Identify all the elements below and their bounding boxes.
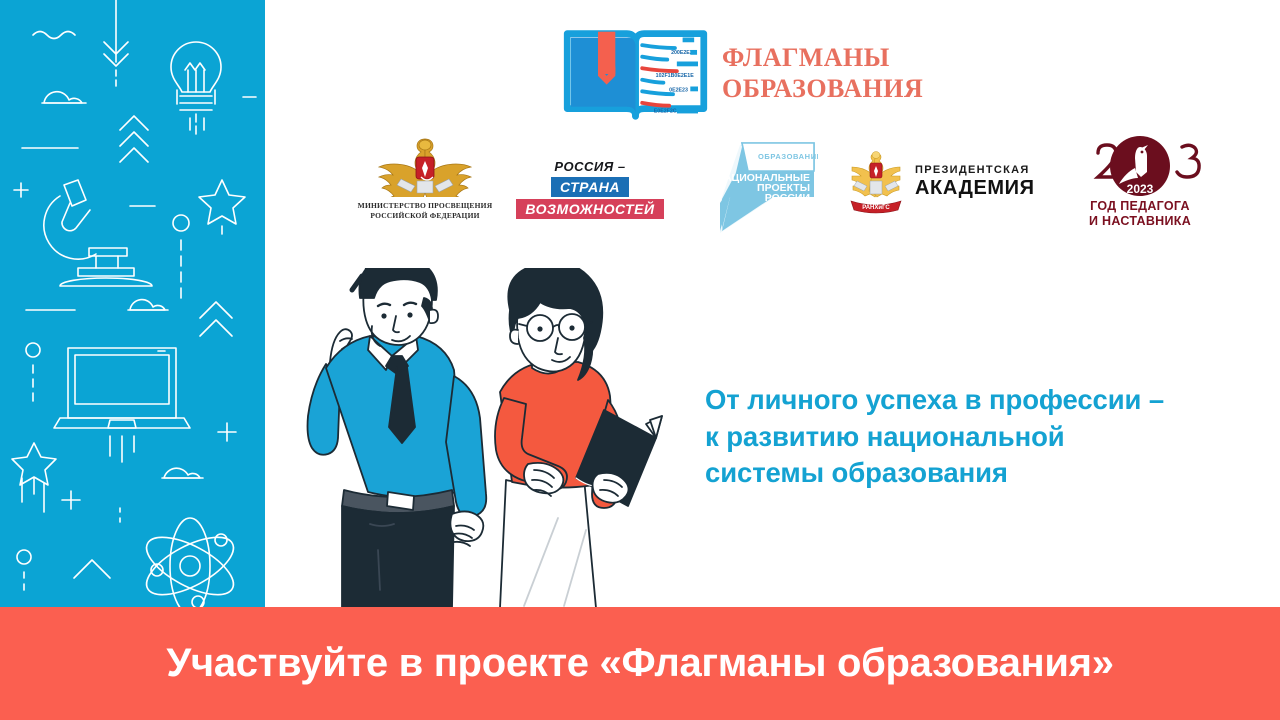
academy-line-1: ПРЕЗИДЕНТСКАЯ <box>915 165 1035 176</box>
ranepa-ribbon-label: РАНХиГС <box>862 205 890 211</box>
cloud-icon <box>42 92 86 103</box>
ministry-caption: МИНИСТЕРСТВО ПРОСВЕЩЕНИЯ РОССИЙСКОЙ ФЕДЕ… <box>358 201 493 221</box>
microscope-icon <box>44 180 152 286</box>
plus-icon <box>218 423 236 441</box>
arrow-down-icon <box>104 0 128 86</box>
atom-icon <box>138 518 242 607</box>
year-of-teacher-caption: ГОД ПЕДАГОГА И НАСТАВНИКА <box>1089 199 1191 229</box>
ranepa-emblem-icon: РАНХиГС <box>845 145 907 217</box>
circle-dotted-icon <box>173 215 189 298</box>
partner-presidential-academy: РАНХиГС ПРЕЗИДЕНТСКАЯ АКАДЕМИЯ <box>845 145 1045 217</box>
call-to-action-banner: Участвуйте в проекте «Флагманы образован… <box>0 607 1280 720</box>
rsv-line-2: СТРАНА <box>551 177 629 197</box>
chevrons-up-icon <box>74 560 110 578</box>
wave-icon <box>33 32 75 39</box>
book-code-1: 102F1B0E2E1E <box>656 73 695 79</box>
star-icon <box>199 180 245 224</box>
lightbulb-icon <box>171 42 221 134</box>
plus-icon <box>14 183 28 197</box>
brand-title: ФЛАГМАНЫ ОБРАЗОВАНИЯ <box>722 43 923 104</box>
two-teachers-illustration <box>300 268 685 608</box>
book-code-2: 0E2E23 <box>669 87 688 93</box>
rsv-line-3: ВОЗМОЖНОСТЕЙ <box>516 199 663 219</box>
tagline-text: От личного успеха в профессии – к развит… <box>705 382 1250 492</box>
decorative-sidebar <box>0 0 265 607</box>
circle-dotted-icon <box>26 343 40 401</box>
laptop-icon <box>54 348 190 462</box>
promo-slide: 200E2E2 102F1B0E2E1E 0E2E23 E0E2F2C ФЛАГ… <box>0 0 1280 720</box>
cloud-icon <box>162 468 203 478</box>
national-projects-education-logo: ОБРАЗОВАНИЕ НАЦИОНАЛЬНЫЕ ПРОЕКТЫ РОССИИ <box>718 141 818 233</box>
open-book-logo: 200E2E2 102F1B0E2E1E 0E2E23 E0E2F2C <box>563 24 708 124</box>
partner-russia-land-of-opportunity: РОССИЯ – СТРАНА ВОЗМОЖНОСТЕЙ <box>510 158 670 219</box>
partner-logos: МИНИСТЕРСТВО ПРОСВЕЩЕНИЯ РОССИЙСКОЙ ФЕДЕ… <box>300 133 1220 238</box>
np-top-label: ОБРАЗОВАНИЕ <box>758 152 818 161</box>
partner-ministry-of-education: МИНИСТЕРСТВО ПРОСВЕЩЕНИЯ РОССИЙСКОЙ ФЕДЕ… <box>325 133 525 221</box>
np-line-3: РОССИИ <box>764 192 809 204</box>
plus-icon <box>62 491 80 509</box>
year-label: 2023 <box>1126 182 1153 196</box>
rsv-line-1: РОССИЯ – <box>548 158 631 175</box>
book-code-3: E0E2F2C <box>654 108 677 114</box>
partner-national-projects-education: ОБРАЗОВАНИЕ НАЦИОНАЛЬНЫЕ ПРОЕКТЫ РОССИИ <box>715 141 820 233</box>
academy-line-2: АКАДЕМИЯ <box>915 178 1035 198</box>
brand-logo: 200E2E2 102F1B0E2E1E 0E2E23 E0E2F2C ФЛАГ… <box>563 24 923 124</box>
cloud-icon <box>128 300 168 310</box>
chevrons-up-icon <box>200 302 232 336</box>
year-of-teacher-2023-logo: 2023 <box>1078 135 1203 197</box>
star-icon <box>12 443 56 512</box>
partner-year-of-teacher-2023: 2023 ГОД ПЕДАГОГА И НАСТАВНИКА <box>1070 135 1210 229</box>
circle-dotted-icon <box>17 550 31 590</box>
banner-text: Участвуйте в проекте «Флагманы образован… <box>166 641 1113 686</box>
chevrons-up-icon <box>120 116 148 162</box>
ministry-of-education-logo <box>371 133 479 197</box>
book-code-0: 200E2E2 <box>671 50 693 56</box>
